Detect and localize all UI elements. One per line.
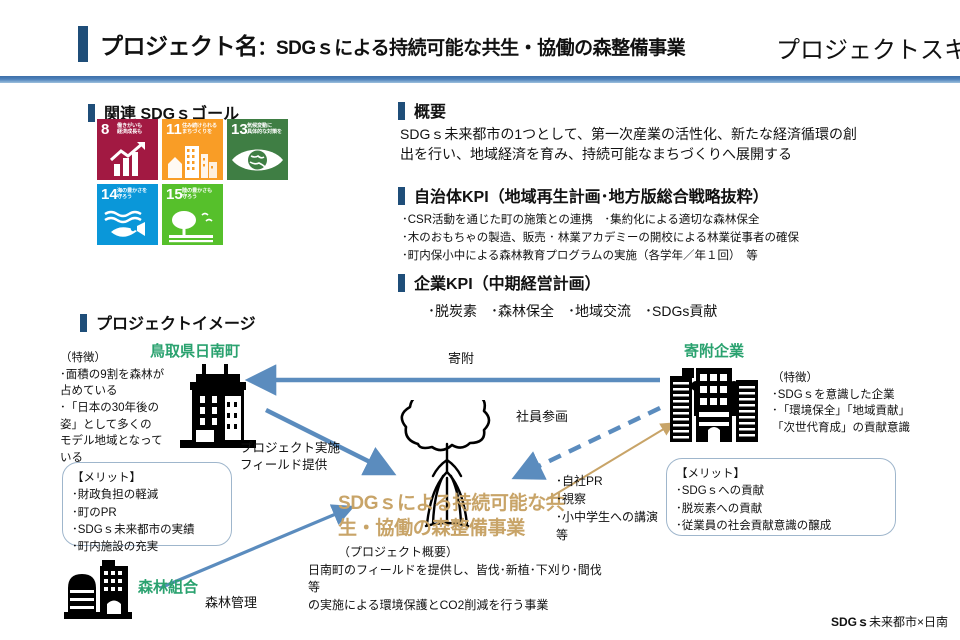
sdg-goal-grid: 8 働きがいも 経済成長も 11 住み続けられる まちづくりを: [97, 119, 293, 249]
slide-canvas: プロジェクト名：SDGｓによる持続可能な共生・協働の森整備事業 プロジェクトスキ…: [0, 0, 960, 640]
gov-kpi-heading: 自治体KPI（地域再生計画･地方版総合戦略抜粋）: [398, 183, 769, 207]
sdg-goal-11[interactable]: 11 住み続けられる まちづくりを: [162, 119, 223, 180]
donation-label: 寄附: [448, 348, 474, 367]
slide-header: プロジェクト名：SDGｓによる持続可能な共生・協働の森整備事業 プロジェクトスキ…: [0, 0, 960, 82]
sdg-goal-8[interactable]: 8 働きがいも 経済成長も: [97, 119, 158, 180]
center-desc-head: （プロジェクト概要）: [338, 544, 458, 561]
sdg-number: 14: [101, 187, 118, 202]
company-merits-box: 【メリット】 ･SDGｓへの貢献 ･脱炭素への貢献 ･従業員の社会貢献意識の醸成: [666, 458, 896, 536]
city-buildings-icon: [162, 140, 223, 178]
field-offer-label: プロジェクト実施 フィールド提供: [240, 440, 340, 474]
page-title-main: プロジェクト名: [100, 33, 258, 59]
sdg-caption: 働きがいも 経済成長も: [117, 123, 156, 136]
company-label: 寄附企業: [684, 340, 744, 361]
sdg-number: 11: [166, 122, 182, 137]
heading-tick-icon: [398, 102, 405, 120]
company-buildings-icon: [666, 362, 762, 444]
forest-union-building-icon: [62, 558, 134, 620]
center-desc-body: 日南町のフィールドを提供し、皆伐･新植･下刈り･間伐等 の実施による環境保護とC…: [308, 562, 608, 614]
footer-bold: SDGｓ: [831, 615, 869, 629]
sdg-caption: 住み続けられる まちづくりを: [182, 123, 221, 136]
center-project-title: SDGｓによる持続可能な共 生・協働の森整備事業: [338, 492, 588, 541]
employee-participation-label: 社員参画: [516, 406, 568, 425]
sdg-number: 15: [166, 187, 183, 202]
forest-union-label: 森林組合: [138, 576, 198, 597]
page-title: プロジェクト名：SDGｓによる持続可能な共生・協働の森整備事業: [100, 27, 685, 61]
sdg-caption: 海の豊かさを 守ろう: [117, 188, 156, 201]
gov-kpi-heading-label: 自治体KPI（地域再生計画･地方版総合戦略抜粋）: [414, 189, 769, 206]
company-features: （特徴） ･SDGｓを意識した企業 ･「環境保全」「地域貢献」 「次世代育成」の…: [772, 370, 952, 437]
town-merits-box: 【メリット】 ･財政負担の軽減 ･町のPR ･SDGｓ未来都市の実績 ･町内施設…: [62, 462, 232, 546]
sdg-number: 8: [101, 122, 109, 137]
eye-globe-icon: [227, 140, 288, 178]
header-right-heading: プロジェクトスキ―: [776, 30, 960, 65]
sdg-number: 13: [231, 122, 248, 137]
sdg-goal-14[interactable]: 14 海の豊かさを 守ろう: [97, 184, 158, 245]
sdg-goal-15[interactable]: 15 陸の豊かさも 守ろう: [162, 184, 223, 245]
page-title-sub: ：SDGｓによる持続可能な共生・協働の森整備事業: [258, 38, 686, 59]
overview-body: SDGｓ未来都市の1つとして、第一次産業の活性化、新たな経済循環の創 出を行い、…: [400, 124, 930, 165]
overview-heading-label: 概要: [414, 104, 446, 121]
activity-list: ･自社PR ･視察 ･小中学生への講演 等: [556, 472, 658, 544]
forest-management-label: 森林管理: [205, 592, 257, 611]
header-divider: [0, 76, 960, 83]
sdg-row: 14 海の豊かさを 守ろう 15 陸の豊かさも 守ろう: [97, 184, 293, 245]
footer-rest: 未来都市×日南: [869, 615, 948, 629]
overview-heading: 概要: [398, 98, 446, 122]
heading-tick-icon: [88, 104, 95, 122]
sdg-caption: 気候変動に 具体的な対策を: [247, 123, 286, 136]
town-features: （特徴） ･面積の9割を森林が 占めている ･「日本の30年後の 姿」として多く…: [60, 350, 190, 467]
header-accent-bar: [78, 26, 88, 62]
project-diagram: 鳥取県日南町 （特徴） ･面積の9割を森林が 占めている ･「日本の30年後の …: [0, 300, 960, 640]
fish-waves-icon: [97, 205, 158, 243]
growth-chart-icon: [97, 140, 158, 178]
gov-kpi-bullets: ･CSR活動を通じた町の施策との連携 ･集約化による適切な森林保全 ･木のおもち…: [402, 212, 942, 265]
sdg-row: 8 働きがいも 経済成長も 11 住み続けられる まちづくりを: [97, 119, 293, 180]
sdg-caption: 陸の豊かさも 守ろう: [182, 188, 221, 201]
heading-tick-icon: [398, 187, 405, 205]
sdg-goal-13[interactable]: 13 気候変動に 具体的な対策を: [227, 119, 288, 180]
heading-tick-icon: [398, 274, 405, 292]
corp-kpi-heading: 企業KPI（中期経営計画）: [398, 270, 601, 294]
tree-birds-icon: [162, 205, 223, 243]
slide-footer: SDGｓ未来都市×日南: [831, 613, 948, 630]
corp-kpi-heading-label: 企業KPI（中期経営計画）: [414, 276, 601, 293]
